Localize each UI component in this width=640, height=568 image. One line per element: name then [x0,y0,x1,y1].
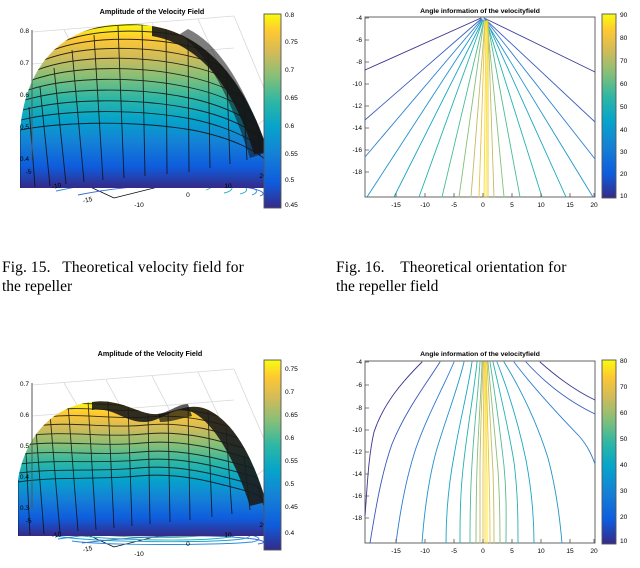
y-tick-label: -12 [352,103,362,110]
figure-17-plot: Amplitude of the Velocity Field [2,340,318,566]
y-tick-label: -10 [352,427,362,434]
x-tick-label: 15 [566,202,574,209]
x-tick-label: -15 [391,548,401,555]
z-tick-label: 0.5 [20,443,29,450]
colorbar-tick-label: 0.75 [285,39,298,46]
colorbar-tick-label: 30 [620,149,628,156]
colorbar-tick-label: 10 [620,538,628,545]
colorbar-tick-label: 20 [620,171,628,178]
angle-contour-plot-1: Angle information of the velocityfield [334,2,638,226]
z-tick-label: 0.7 [20,60,29,67]
x-tick-label: 0 [186,541,190,548]
figure-16-caption: Fig. 16. Theoretical orientation for the… [336,258,638,296]
colorbar-tick-label: 0.4 [285,530,294,537]
caption-text-line1: Theoretical orientation for [400,259,566,276]
x-tick-label: 0 [481,202,485,209]
figure-15-caption: Fig. 15. Theoretical velocity field for … [2,258,312,296]
x-tick-label: 15 [566,548,574,555]
y-tick-label: -10 [352,81,362,88]
colorbar-tick-label: 0.65 [285,412,298,419]
z-tick-label: 0.7 [20,381,29,388]
caption-text-line1: Theoretical velocity field for [62,259,244,276]
colorbar-tick-label: 0.5 [285,177,294,184]
figure-18-plot: Angle information of the velocityfield [334,340,638,566]
z-tick-label: 0.4 [20,156,29,163]
y-tick-label: -6 [356,37,362,44]
y-tick-label: -8 [356,405,362,412]
y-tick-label: -18 [352,515,362,522]
colorbar-tick-label: 80 [620,35,628,42]
colorbar-tick-label: 20 [620,514,628,521]
colorbar-tick-label: 50 [620,436,628,443]
colorbar-tick-label: 0.75 [285,366,298,373]
colorbar-tick-label: 0.45 [285,504,298,511]
x-tick-label: 20 [590,202,598,209]
plot-title: Angle information of the velocityfield [420,8,540,15]
colorbar-tick-label: 60 [620,81,628,88]
y-tick-label: -18 [352,169,362,176]
colorbar-tick-label: 10 [620,193,628,200]
colorbar-tick-label: 0.65 [285,95,298,102]
colorbar-tick-label: 40 [620,127,628,134]
x-tick-label: 20 [590,548,598,555]
x-tick-label: 5 [510,548,514,555]
paper-page: Amplitude of the Velocity Field [0,0,640,568]
plot-title: Amplitude of the Velocity Field [98,349,203,358]
colorbar-tick-label: 0.8 [285,12,294,19]
figure-16-plot: Angle information of the velocityfield [334,2,638,226]
angle-contour-plot-2: Angle information of the velocityfield [334,340,638,566]
figure-label: Fig. 15. [2,259,51,276]
z-tick-label: 0.5 [20,124,29,131]
colorbar-tick-label: 0.7 [285,67,294,74]
z-tick-label: 0.6 [20,412,29,419]
colorbar-tick-label: 30 [620,488,628,495]
x-tick-label: 10 [224,532,232,539]
y-tick-label: -4 [356,15,362,22]
y-tick-label: -8 [356,59,362,66]
y-tick-label: -4 [356,359,362,366]
x-tick-label: 5 [510,202,514,209]
y-tick-label: -14 [352,125,362,132]
colorbar-tick-label: 0.45 [285,202,298,209]
x-tick-label: 10 [224,183,232,190]
y-tick-label: -6 [356,382,362,389]
x-tick-label: -10 [134,202,144,209]
colorbar-tick-label: 0.55 [285,151,298,158]
amplitude-surface-plot-1: Amplitude of the Velocity Field [2,2,318,226]
figure-label: Fig. 16. [336,259,385,276]
colorbar-tick-label: 70 [620,58,628,65]
colorbar: 90 80 70 60 50 40 30 20 10 [602,12,628,200]
colorbar-tick-label: 70 [620,384,628,391]
x-tick-label: -10 [134,551,144,558]
x-tick-label: -5 [451,548,457,555]
y-tick-label: -16 [352,147,362,154]
figure-15-plot: Amplitude of the Velocity Field [2,2,318,226]
colorbar-tick-label: 60 [620,410,628,417]
x-tick-label: 10 [537,202,545,209]
y-tick-label: -16 [352,493,362,500]
caption-text-line2: the repeller [2,277,312,296]
x-tick-label: -10 [420,548,430,555]
plot-title: Angle information of the velocityfield [420,351,540,358]
colorbar-tick-label: 0.5 [285,481,294,488]
x-tick-label: 0 [481,548,485,555]
x-tick-label: -10 [420,202,430,209]
colorbar-tick-label: 80 [620,358,628,365]
colorbar-tick-label: 0.55 [285,458,298,465]
amplitude-surface-plot-2: Amplitude of the Velocity Field [2,340,318,566]
z-tick-label: 0.8 [20,28,29,35]
plot-title: Amplitude of the Velocity Field [100,7,205,16]
colorbar-tick-label: 0.6 [285,435,294,442]
colorbar-tick-label: 0.6 [285,123,294,130]
x-tick-label: -5 [451,202,457,209]
colorbar-tick-label: 0.7 [285,389,294,396]
colorbar-tick-label: 40 [620,462,628,469]
x-tick-label: 10 [537,548,545,555]
y-tick-label: -12 [352,449,362,456]
z-tick-label: 0.3 [20,505,29,512]
colorbar-tick-label: 50 [620,104,628,111]
caption-text-line2: the repeller field [336,277,638,296]
y-tick-label: -14 [352,471,362,478]
x-tick-label: -15 [391,202,401,209]
colorbar-tick-label: 90 [620,12,628,19]
z-tick-label: 0.4 [20,474,29,481]
x-tick-label: 0 [186,192,190,199]
z-tick-label: 0.6 [20,92,29,99]
